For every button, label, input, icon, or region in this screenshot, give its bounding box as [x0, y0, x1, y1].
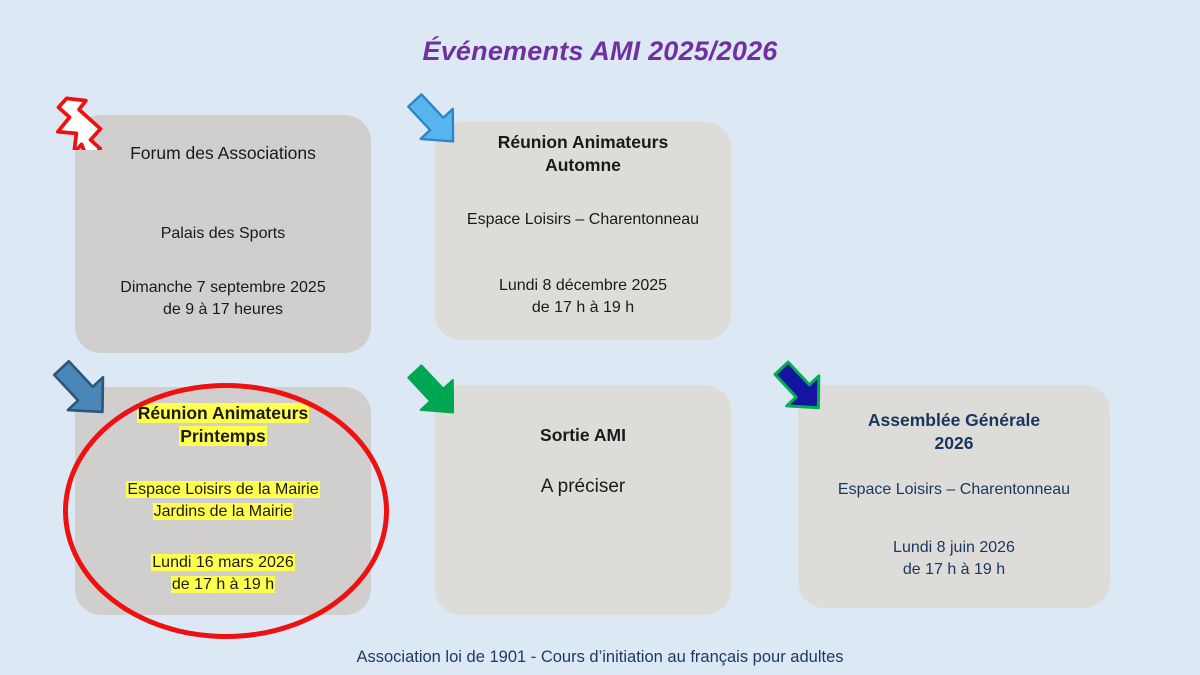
green-arrow-icon [400, 361, 468, 423]
card-title-forum: Forum des Associations [75, 142, 371, 165]
card-date-automne: Lundi 8 décembre 2025 de 17 h à 19 h [435, 275, 731, 318]
card-venue-assemblee-generale: Espace Loisirs – Charentonneau [798, 479, 1110, 501]
steel-blue-arrow-icon [45, 357, 119, 423]
card-title-assemblee-generale: Assemblée Générale 2026 [798, 409, 1110, 455]
card-title-sortie: Sortie AMI [435, 424, 731, 447]
event-card-automne[interactable]: Réunion Animateurs Automne Espace Loisir… [435, 122, 731, 340]
card-detail-sortie: A préciser [435, 474, 731, 500]
page-title: Événements AMI 2025/2026 [0, 36, 1200, 67]
card-venue-forum: Palais des Sports [75, 223, 371, 245]
event-card-forum[interactable]: Forum des Associations Palais des Sports… [75, 115, 371, 353]
footer-text: Association loi de 1901 - Cours d’initia… [0, 648, 1200, 667]
card-date-assemblee-generale: Lundi 8 juin 2026 de 17 h à 19 h [798, 537, 1110, 580]
card-title-printemps: Réunion Animateurs Printemps [75, 402, 371, 448]
light-blue-arrow-icon [400, 90, 468, 152]
card-date-forum: Dimanche 7 septembre 2025 de 9 à 17 heur… [75, 277, 371, 320]
event-card-printemps[interactable]: Réunion Animateurs Printemps Espace Lois… [75, 387, 371, 615]
event-card-assemblee-generale[interactable]: Assemblée Générale 2026 Espace Loisirs –… [798, 385, 1110, 608]
highlighted-text: Espace Loisirs de la Mairie Jardins de l… [126, 481, 319, 520]
highlighted-text: Réunion Animateurs Printemps [137, 403, 309, 446]
card-title-automne: Réunion Animateurs Automne [435, 131, 731, 177]
event-card-sortie[interactable]: Sortie AMI A préciser [435, 385, 731, 615]
card-venue-automne: Espace Loisirs – Charentonneau [435, 209, 731, 231]
highlighted-text: Lundi 16 mars 2026 de 17 h à 19 h [151, 554, 294, 593]
card-venue-printemps: Espace Loisirs de la Mairie Jardins de l… [75, 479, 371, 522]
red-outline-arrow-icon [44, 92, 118, 150]
slide-canvas: Événements AMI 2025/2026 Forum des Assoc… [0, 0, 1200, 675]
navy-arrow-icon [766, 357, 834, 419]
card-date-printemps: Lundi 16 mars 2026 de 17 h à 19 h [75, 552, 371, 595]
